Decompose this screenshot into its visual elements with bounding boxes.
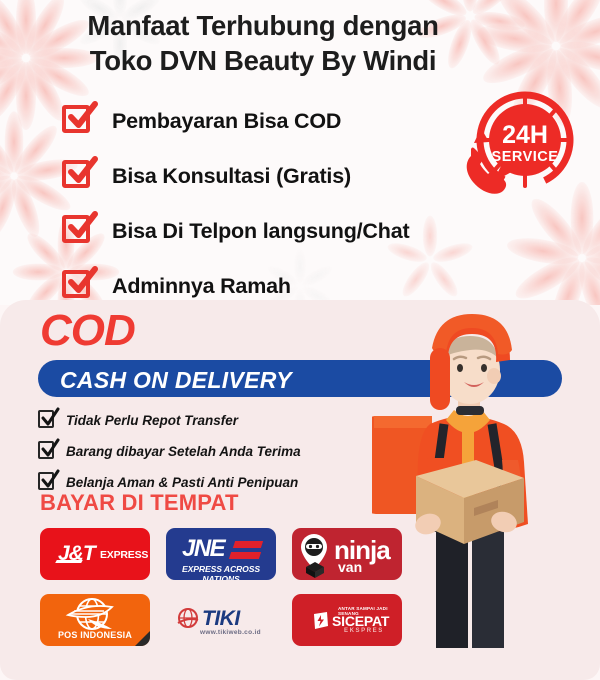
checkbox-checked-icon (38, 440, 58, 462)
cod-title: COD (40, 309, 135, 353)
cod-footer-text: BAYAR DI TEMPAT (40, 490, 239, 516)
pos-globe-bird-icon (64, 597, 126, 633)
jnt-sub-text: EXPRESS (100, 549, 148, 561)
cod-point-label: Barang dibayar Setelah Anda Terima (66, 444, 301, 459)
tiki-globe-icon (176, 606, 200, 630)
cod-point-label: Belanja Aman & Pasti Anti Penipuan (66, 475, 298, 490)
headline-line-2: Toko DVN Beauty By Windi (48, 43, 478, 78)
checkbox-checked-icon (62, 270, 96, 303)
tiki-main-text: TIKI (202, 607, 240, 631)
benefit-label: Adminnya Ramah (112, 274, 291, 299)
page-title: Manfaat Terhubung dengan Toko DVN Beauty… (48, 8, 478, 78)
sicepat-sub-text: EKSPRES (344, 628, 384, 634)
checkbox-checked-icon (62, 105, 96, 138)
jne-logo[interactable]: JNE EXPRESS ACROSS NATIONS (166, 528, 276, 580)
list-item: Bisa Di Telpon langsung/Chat (62, 205, 482, 257)
headline-line-1: Manfaat Terhubung dengan (48, 8, 478, 43)
list-item: Tidak Perlu Repot Transfer (38, 406, 368, 434)
tiki-logo[interactable]: TIKI www.tikiweb.co.id (166, 594, 276, 646)
badge-hours-text: 24H (502, 121, 548, 149)
ninja-sub-text: van (338, 559, 362, 575)
jne-main-text: JNE (182, 535, 224, 563)
benefit-label: Bisa Konsultasi (Gratis) (112, 164, 351, 189)
promo-poster: Manfaat Terhubung dengan Toko DVN Beauty… (0, 0, 600, 680)
benefit-label: Pembayaran Bisa COD (112, 109, 341, 134)
cod-section: COD CASH ON DELIVERY (0, 300, 600, 680)
jnt-express-logo[interactable]: J&T EXPRESS (40, 528, 150, 580)
list-item: Pembayaran Bisa COD (62, 95, 482, 147)
list-item: Adminnya Ramah (62, 260, 482, 305)
pos-indonesia-logo[interactable]: POS INDONESIA (40, 594, 150, 646)
benefit-label: Bisa Di Telpon langsung/Chat (112, 219, 409, 244)
cod-subtitle: CASH ON DELIVERY (60, 367, 292, 394)
benefits-section: Manfaat Terhubung dengan Toko DVN Beauty… (0, 0, 600, 305)
tiki-sub-text: www.tikiweb.co.id (200, 629, 261, 636)
sicepat-bolt-icon (312, 611, 330, 631)
ninja-pin-icon (296, 531, 336, 580)
badge-service-text: SERVICE (492, 149, 559, 165)
sicepat-ekspres-logo[interactable]: ANTAR SAMPAI JADI SENANG SICEPAT EKSPRES (292, 594, 402, 646)
ninja-van-logo[interactable]: ninja van (292, 528, 402, 580)
checkbox-checked-icon (38, 409, 58, 431)
jnt-accent-stroke (55, 560, 83, 563)
phone-clock-24h-icon: 24H SERVICE (455, 88, 577, 210)
jne-sub-text: EXPRESS ACROSS NATIONS (174, 564, 268, 580)
jne-accent-bar-top (233, 541, 263, 548)
pos-sub-text: POS INDONESIA (40, 630, 150, 640)
cod-points-list: Tidak Perlu Repot Transfer Barang dibaya… (38, 406, 368, 499)
list-item: Barang dibayar Setelah Anda Terima (38, 437, 368, 465)
checkbox-checked-icon (62, 160, 96, 193)
list-item: Bisa Konsultasi (Gratis) (62, 150, 482, 202)
sicepat-main-text: SICEPAT (332, 613, 389, 629)
checkbox-checked-icon (62, 215, 96, 248)
jne-accent-bar-bottom (229, 552, 261, 559)
cod-point-label: Tidak Perlu Repot Transfer (66, 413, 238, 428)
benefits-list: Pembayaran Bisa COD Bisa Konsultasi (Gra… (62, 95, 482, 305)
